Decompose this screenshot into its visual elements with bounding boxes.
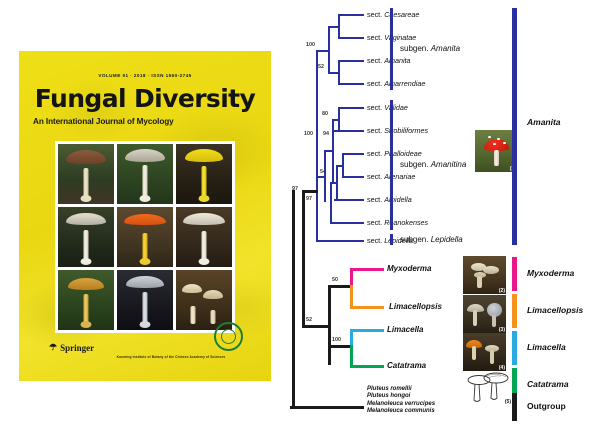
cover-photo-7 — [58, 270, 114, 330]
subgenus-prefix: subgen. — [400, 235, 431, 244]
catatrama-line-drawing-icon — [463, 370, 511, 406]
tip-name: Vaginatae — [384, 33, 416, 42]
backbone-root — [292, 190, 295, 408]
thumbnail-tag: (5) — [505, 399, 511, 405]
tip-label-strobiliformes: sect. Strobiliformes — [367, 126, 428, 135]
node-limacellopsis-stem — [350, 285, 353, 308]
branch-tip-amidella — [334, 199, 364, 201]
legend-bar-outgroup — [512, 393, 517, 421]
bootstrap-value-8: 50 — [332, 277, 338, 283]
springer-logo: ☂ Springer — [49, 342, 94, 353]
branch-tip-limacella — [350, 329, 384, 332]
bootstrap-value-7: 97 — [306, 196, 312, 202]
bootstrap-value-1: 52 — [318, 64, 324, 70]
cover-photo-9 — [176, 270, 232, 330]
tip-prefix: sect. — [367, 103, 384, 112]
tip-prefix: sect. — [367, 218, 384, 227]
tip-prefix: sect. — [367, 79, 384, 88]
bootstrap-value-5: 54 — [320, 169, 326, 175]
tip-label-phalloideae: sect. Phalloideae — [367, 149, 422, 158]
subgenus-prefix: subgen. — [400, 44, 431, 53]
cover-subtitle: An International Journal of Mycology — [33, 117, 257, 126]
bootstrap-value-3: 94 — [323, 131, 329, 137]
cover-photo-2 — [117, 144, 173, 204]
springer-label: Springer — [60, 343, 94, 353]
legend-label-limacella: Limacella — [527, 342, 566, 352]
thumbnail-amanita: (1) — [475, 130, 517, 172]
bootstrap-value-6: 97 — [292, 186, 298, 192]
tip-label-limacellopsis: Limacellopsis — [389, 302, 442, 311]
tip-prefix: sect. — [367, 10, 384, 19]
tip-label-amanita: sect. Amanita — [367, 56, 411, 65]
legend-label-amanita: Amanita — [527, 117, 561, 127]
branch-tip-phalloideae — [342, 153, 364, 155]
subgenus-name: Amanitina — [431, 160, 467, 169]
branch-tip-vaginatae — [338, 37, 364, 39]
tip-prefix: sect. — [367, 33, 384, 42]
branch-tip-lepidella — [316, 240, 364, 242]
node-amanita-genus — [316, 50, 318, 240]
bootstrap-value-2: 80 — [322, 111, 328, 117]
subgenus-prefix: subgen. — [400, 160, 431, 169]
branch-tip-catatrama — [350, 365, 384, 368]
node-catatrama-stem — [350, 345, 353, 367]
legend-label-catatrama: Catatrama — [527, 379, 569, 389]
branch-tip-arenariae — [342, 176, 364, 178]
legend-bar-limacella — [512, 331, 517, 365]
tip-name: Amidella — [384, 195, 412, 204]
cover-title: Fungal Diversity — [19, 84, 271, 113]
thumbnail-limacellopsis: (3) — [463, 295, 506, 333]
tip-label-roanokenses: sect. Roanokenses — [367, 218, 428, 227]
branch-subgen-amanita — [318, 50, 330, 52]
cover-photo-grid — [55, 141, 235, 333]
tip-label-caesareae: sect. Caesareae — [367, 10, 419, 19]
phylogenetic-tree: 100 52 80 94 100 54 97 97 50 52 100 sect… — [290, 0, 600, 429]
subgenus-name: Amanita — [431, 44, 460, 53]
outgroup-taxon-1: Pluteus hongoi — [367, 393, 435, 400]
bootstrap-value-9: 52 — [306, 317, 312, 323]
bootstrap-value-4: 100 — [304, 131, 313, 137]
thumbnail-catatrama: (5) — [463, 370, 511, 406]
tip-label-myxoderma: Myxoderma — [387, 264, 431, 273]
subgenus-label-lepidella: subgen. Lepidella — [400, 235, 463, 244]
outgroup-taxon-2: Melanoleuca verrucipes — [367, 401, 435, 408]
thumbnail-myxoderma: (2) — [463, 256, 506, 294]
node-amanitina-roanokenses — [330, 182, 332, 222]
tip-prefix: sect. — [367, 56, 384, 65]
legend-bar-amanita — [512, 8, 517, 245]
cover-photo-4 — [58, 207, 114, 267]
branch-limacella-catatrama — [328, 345, 350, 348]
branch-tip-amanita — [338, 60, 364, 62]
kib-logo-icon — [214, 322, 243, 351]
tip-label-amarrendiae: sect. Amarrendiae — [367, 79, 425, 88]
tip-label-limacella: Limacella — [387, 325, 423, 334]
journal-cover: VOLUME 91 · 2018 · ISSN 1560-2745 Fungal… — [19, 51, 271, 381]
tip-prefix: sect. — [367, 172, 384, 181]
branch-tip-caesareae — [338, 14, 364, 16]
tip-name: Arenariae — [384, 172, 415, 181]
branch-tip-amarrendiae — [338, 83, 364, 85]
outgroup-taxon-0: Pluteus romellii — [367, 386, 435, 393]
legend-label-limacellopsis: Limacellopsis — [527, 305, 583, 315]
branch-myxo-limacellopsis — [328, 285, 350, 288]
outgroup-taxon-3: Melanoleuca communis — [367, 408, 435, 415]
subgenus-label-amanitina: subgen. Amanitina — [400, 160, 466, 169]
bootstrap-value-10: 100 — [332, 337, 341, 343]
tip-label-catatrama: Catatrama — [387, 361, 426, 370]
cover-photo-5 — [117, 207, 173, 267]
backbone-amanita-others — [302, 190, 305, 325]
node-four-genera — [328, 285, 331, 365]
tip-prefix: sect. — [367, 126, 384, 135]
cover-photo-1 — [58, 144, 114, 204]
branch-tip-validae — [338, 107, 364, 109]
legend-label-myxoderma: Myxoderma — [527, 268, 574, 278]
thumbnail-tag: (2) — [499, 288, 505, 294]
cover-volume-line: VOLUME 91 · 2018 · ISSN 1560-2745 — [19, 73, 271, 78]
cover-photo-6 — [176, 207, 232, 267]
branch-outgroup — [290, 406, 364, 409]
legend-bar-limacellopsis — [512, 294, 517, 328]
brace-subgen-amanitina — [390, 100, 393, 230]
cover-photo-8 — [117, 270, 173, 330]
branch-tip-limacellopsis — [350, 306, 384, 309]
springer-mark: ☂ — [49, 342, 57, 353]
branch-tip-roanokenses — [330, 222, 364, 224]
thumbnail-limacella: (4) — [463, 333, 506, 371]
tip-label-validae: sect. Validae — [367, 103, 408, 112]
tip-prefix: sect. — [367, 195, 384, 204]
legend-label-outgroup: Outgroup — [527, 401, 566, 411]
bootstrap-value-0: 100 — [306, 42, 315, 48]
outgroup-taxa-list: Pluteus romellii Pluteus hongoi Melanole… — [367, 386, 435, 416]
tip-prefix: sect. — [367, 236, 384, 245]
legend-bar-myxoderma — [512, 257, 517, 291]
branch-limacella-clade — [302, 325, 328, 328]
tip-name: Amanita — [384, 56, 410, 65]
cover-photo-3 — [176, 144, 232, 204]
tip-prefix: sect. — [367, 149, 384, 158]
branch-tip-myxoderma — [350, 268, 384, 271]
kib-institute-label: Kunming Institute of Botany of the Chine… — [91, 355, 251, 359]
brace-subgen-amanita — [390, 8, 393, 90]
subgenus-name: Lepidella — [431, 235, 463, 244]
subgenus-label-amanita: subgen. Amanita — [400, 44, 460, 53]
brace-subgen-lepidella — [390, 234, 393, 245]
tip-name: Validae — [384, 103, 408, 112]
